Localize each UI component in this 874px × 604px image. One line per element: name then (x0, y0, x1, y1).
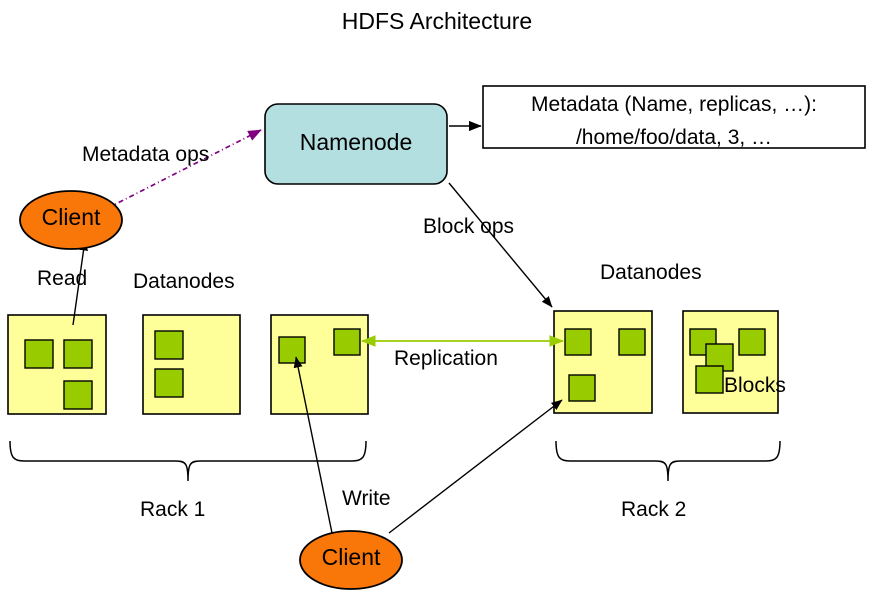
hdfs-architecture-diagram: HDFS Architecture Namenode Metadata (Nam… (0, 0, 874, 604)
rack2-datanode-1 (554, 311, 652, 413)
block (619, 329, 645, 355)
metadata-box-line-2: /home/foo/data, 3, … (483, 127, 865, 148)
rack1-datanode-2 (143, 315, 240, 414)
namenode-label: Namenode (265, 131, 447, 154)
metadata-ops-label: Metadata ops (82, 144, 209, 165)
block (334, 329, 360, 355)
client-top-label: Client (22, 206, 120, 229)
read-label: Read (37, 268, 87, 289)
rack1-brace (10, 441, 366, 481)
block (155, 331, 183, 359)
datanodes-right-label: Datanodes (600, 262, 702, 283)
rack2-label: Rack 2 (621, 499, 686, 520)
block (64, 381, 92, 409)
rack1-datanode-1 (8, 315, 106, 414)
block (25, 340, 53, 368)
rack2-brace (556, 441, 780, 481)
block (739, 329, 765, 355)
client-bottom-label: Client (302, 546, 400, 569)
block-ops-label: Block ops (423, 216, 514, 237)
write-label: Write (342, 488, 391, 509)
block (155, 369, 183, 397)
rack1-datanode-3 (271, 315, 368, 414)
replication-label: Replication (394, 348, 498, 369)
block (565, 329, 591, 355)
metadata-ops-arrow (108, 130, 261, 208)
diagram-vector-layer (0, 0, 874, 604)
block (569, 375, 595, 401)
rack1-label: Rack 1 (140, 499, 205, 520)
datanodes-left-label: Datanodes (133, 271, 235, 292)
block (64, 340, 92, 368)
block-ops-arrow (449, 183, 552, 307)
rack2-datanode-2 (683, 311, 778, 413)
write-arrow-2 (389, 400, 562, 533)
block (279, 337, 305, 363)
blocks-label: Blocks (724, 375, 786, 396)
block (696, 366, 723, 393)
page-title: HDFS Architecture (0, 10, 874, 33)
metadata-box-line-1: Metadata (Name, replicas, …): (483, 94, 865, 115)
